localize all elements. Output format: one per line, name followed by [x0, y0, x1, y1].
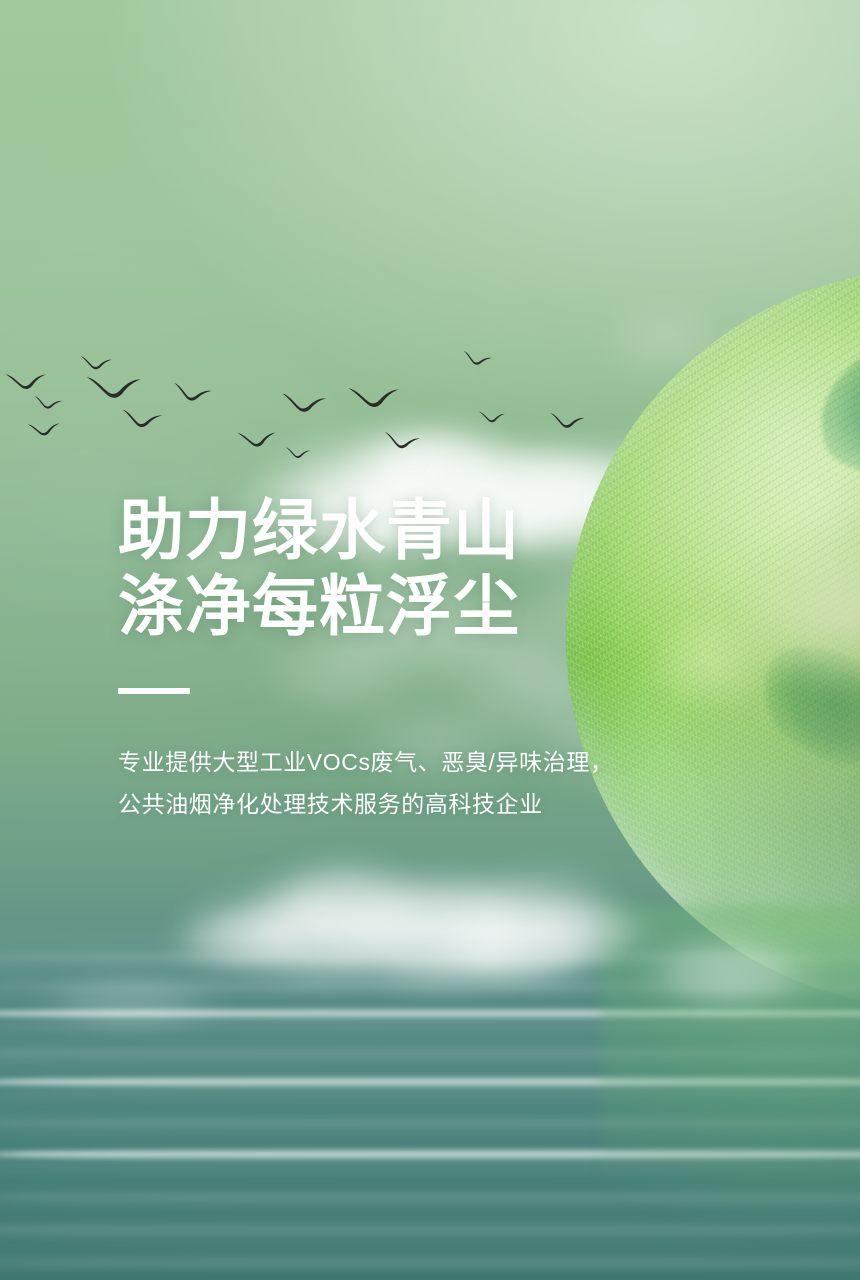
headline-line-1: 助力绿水青山: [118, 492, 738, 568]
water-ripple: [0, 1192, 860, 1203]
water-ripple: [0, 982, 860, 991]
water-ripple: [0, 952, 860, 962]
water-ripple: [0, 1208, 860, 1214]
divider-rule: [118, 688, 190, 694]
water-ripple: [0, 1104, 860, 1108]
water-ripple: [0, 1090, 860, 1096]
text-block: 助力绿水青山 涤净每粒浮尘 专业提供大型工业VOCs废气、恶臭/异味治理， 公共…: [118, 492, 738, 825]
headline-line-2: 涤净每粒浮尘: [118, 568, 738, 644]
water-ripple: [0, 1258, 860, 1268]
subtitle-line-2: 公共油烟净化处理技术服务的高科技企业: [118, 783, 738, 825]
water-ripple: [0, 1164, 860, 1170]
water-ripple: [0, 1048, 860, 1058]
water-ripple: [0, 1008, 860, 1019]
water-ripple: [0, 994, 860, 998]
water-ripple: [0, 938, 860, 944]
water-ripple: [0, 1132, 860, 1138]
subtitle-line-1: 专业提供大型工业VOCs废气、恶臭/异味治理，: [118, 741, 738, 783]
water-surface: [0, 930, 860, 1280]
water-ripple: [0, 1034, 860, 1038]
water-ripple: [0, 1224, 860, 1236]
water-ripple: [0, 1118, 860, 1128]
water-ripple: [0, 968, 860, 973]
water-ripple: [0, 1148, 860, 1161]
eco-poster: 助力绿水青山 涤净每粒浮尘 专业提供大型工业VOCs废气、恶臭/异味治理， 公共…: [0, 0, 860, 1280]
water-ripple: [0, 1178, 860, 1182]
water-ripple: [0, 1242, 860, 1249]
water-ripple: [0, 1076, 860, 1088]
water-ripple: [0, 1062, 860, 1067]
water-ripple: [0, 1022, 860, 1028]
